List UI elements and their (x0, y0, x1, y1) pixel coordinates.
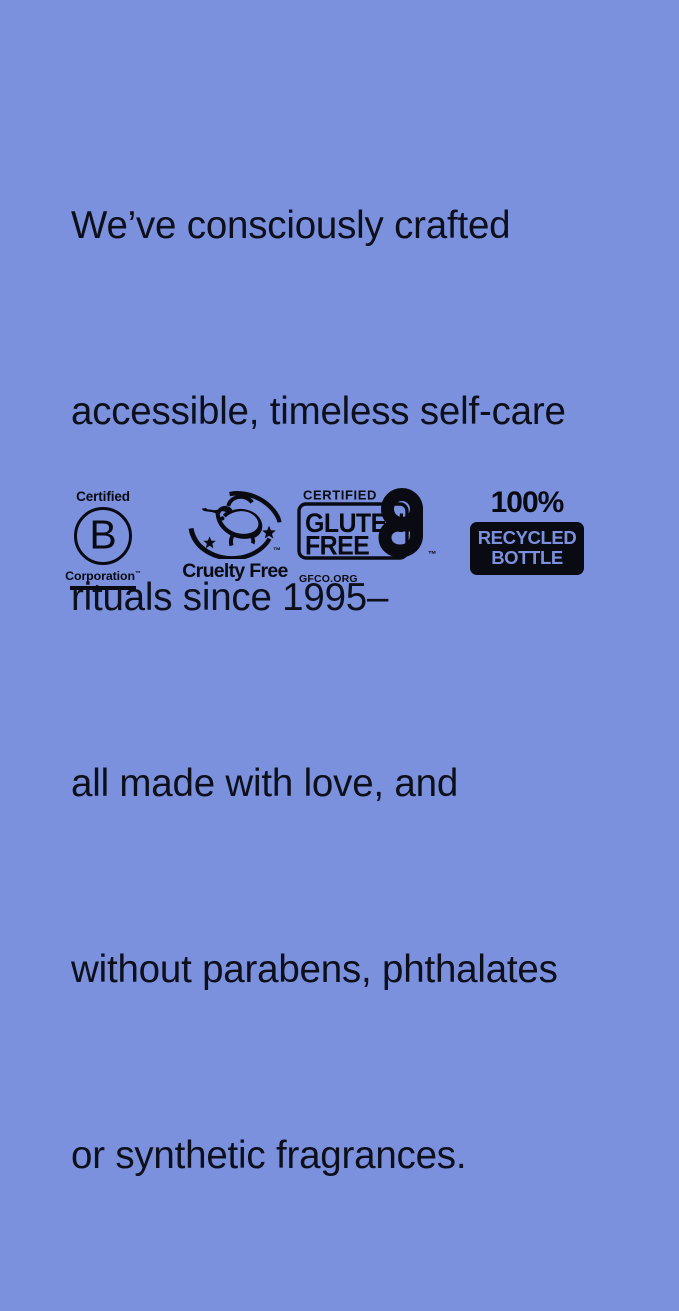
cruelty-free-label: Cruelty Free (174, 560, 296, 582)
gluten-free-mark-icon: CERTIFIED GLUTEN FREE ™ (296, 487, 444, 573)
statement-line-6: or synthetic fragrances. (71, 1125, 661, 1187)
b-corp-corporation-text: Corporation (65, 569, 135, 583)
recycled-line-1-label: RECYCLED (470, 528, 584, 548)
statement-line-2: accessible, timeless self-care (71, 381, 661, 443)
b-corp-corporation-label: Corporation™ (62, 567, 144, 583)
recycled-line-2-label: BOTTLE (470, 548, 584, 568)
gluten-line-2-text: FREE (305, 529, 369, 560)
gluten-free-url-label: GFCO.ORG (296, 573, 444, 585)
statement-line-5: without parabens, phthalates (71, 939, 661, 1001)
b-corp-certified-label: Certified (62, 489, 144, 504)
recycled-bottle-plate: RECYCLED BOTTLE (470, 522, 584, 575)
gluten-certified-text: CERTIFIED (303, 488, 377, 503)
b-corp-trademark-symbol: ™ (135, 571, 141, 577)
gluten-trademark-symbol: ™ (428, 549, 437, 559)
b-corp-letter: B (77, 515, 129, 556)
badge-certified-gluten-free: CERTIFIED GLUTEN FREE ™ (296, 487, 444, 592)
b-corp-circle-icon: B (74, 507, 132, 565)
badge-cruelty-free: ™ Cruelty Free (174, 487, 296, 592)
badge-recycled-bottle: 100% RECYCLED BOTTLE (469, 487, 585, 592)
svg-text:™: ™ (273, 546, 281, 555)
statement-line-1: We’ve consciously crafted (71, 195, 661, 257)
promo-card: We’ve consciously crafted accessible, ti… (0, 0, 679, 679)
badge-b-corporation: Certified B Corporation™ (62, 487, 144, 592)
recycled-percent-label: 100% (469, 487, 585, 519)
statement-line-4: all made with love, and (71, 753, 661, 815)
brand-statement: We’ve consciously crafted accessible, ti… (71, 71, 661, 1311)
leaping-bunny-icon: ™ (183, 487, 288, 559)
certification-badge-row: Certified B Corporation™ (62, 487, 622, 592)
b-corp-underline-rule (70, 586, 136, 589)
